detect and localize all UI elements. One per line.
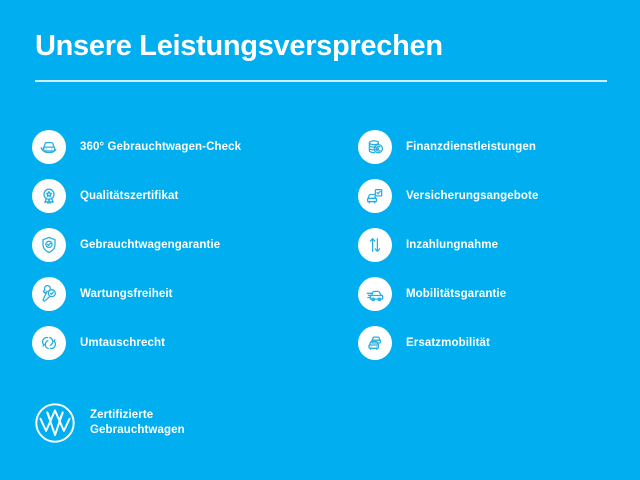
promises-column-left: 360° Gebrauchtwagen-Check Qualitätszerti… xyxy=(0,122,320,367)
promise-label: Ersatzmobilität xyxy=(406,337,490,349)
brand-line-1: Zertifizierte xyxy=(90,408,185,423)
car-360-check-icon xyxy=(32,130,66,164)
promise-item-gebrauchtwagen-check[interactable]: 360° Gebrauchtwagen-Check xyxy=(32,122,320,171)
promise-item-versicherungsangebote[interactable]: Versicherungsangebote xyxy=(358,171,640,220)
promise-label: Qualitätszertifikat xyxy=(80,190,178,202)
promise-item-ersatzmobilitaet[interactable]: Ersatzmobilität xyxy=(358,318,640,367)
coins-euro-icon xyxy=(358,130,392,164)
two-cars-icon xyxy=(358,326,392,360)
promise-item-inzahlungnahme[interactable]: Inzahlungnahme xyxy=(358,220,640,269)
promise-label: Finanzdienstleistungen xyxy=(406,141,536,153)
car-motion-icon xyxy=(358,277,392,311)
header: Unsere Leistungsversprechen xyxy=(35,28,607,82)
promises-grid: 360° Gebrauchtwagen-Check Qualitätszerti… xyxy=(0,122,640,367)
shield-check-icon xyxy=(32,228,66,262)
wrench-check-icon xyxy=(32,277,66,311)
brand-text: Zertifizierte Gebrauchtwagen xyxy=(90,408,185,438)
brand-footer: Zertifizierte Gebrauchtwagen xyxy=(33,401,185,445)
promise-label: Umtauschrecht xyxy=(80,337,165,349)
up-down-arrows-icon xyxy=(358,228,392,262)
promise-label: Mobilitätsgarantie xyxy=(406,288,506,300)
promise-item-umtauschrecht[interactable]: Umtauschrecht xyxy=(32,318,320,367)
car-document-check-icon xyxy=(358,179,392,213)
promise-label: Gebrauchtwagengarantie xyxy=(80,239,220,251)
header-divider xyxy=(35,80,607,82)
volkswagen-logo-icon xyxy=(33,401,77,445)
brand-line-2: Gebrauchtwagen xyxy=(90,423,185,438)
promise-label: Inzahlungnahme xyxy=(406,239,498,251)
quality-seal-icon xyxy=(32,179,66,213)
promise-label: 360° Gebrauchtwagen-Check xyxy=(80,141,241,153)
exchange-arrows-icon xyxy=(32,326,66,360)
promise-item-gebrauchtwagengarantie[interactable]: Gebrauchtwagengarantie xyxy=(32,220,320,269)
promise-item-finanzdienstleistungen[interactable]: Finanzdienstleistungen xyxy=(358,122,640,171)
promise-label: Wartungsfreiheit xyxy=(80,288,173,300)
page-title: Unsere Leistungsversprechen xyxy=(35,28,607,64)
slide-root: Unsere Leistungsversprechen xyxy=(0,0,640,480)
promise-item-mobilitaetsgarantie[interactable]: Mobilitätsgarantie xyxy=(358,269,640,318)
promise-item-qualitaetszertifikat[interactable]: Qualitätszertifikat xyxy=(32,171,320,220)
promise-item-wartungsfreiheit[interactable]: Wartungsfreiheit xyxy=(32,269,320,318)
promise-label: Versicherungsangebote xyxy=(406,190,538,202)
promises-column-right: Finanzdienstleistungen xyxy=(320,122,640,367)
